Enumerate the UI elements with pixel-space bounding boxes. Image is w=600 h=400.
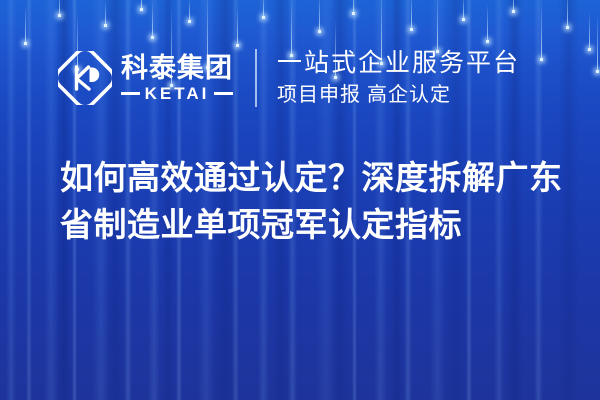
light-particle — [140, 8, 143, 11]
light-particle — [410, 28, 413, 31]
tagline-main: 一站式企业服务平台 — [277, 48, 520, 79]
tagline-block: 一站式企业服务平台 项目申报 高企认定 — [277, 48, 520, 108]
light-particle — [318, 30, 321, 33]
light-particle — [352, 12, 355, 15]
page-title: 如何高效通过认定？深度拆解广东省制造业单项冠军认定指标 — [60, 155, 570, 249]
light-particle — [512, 10, 515, 13]
light-particle — [262, 16, 265, 19]
brand-name-en-row: KETAI — [121, 85, 233, 102]
promo-banner: 科泰集团 KETAI 一站式企业服务平台 项目申报 高企认定 如何高效通过认定？… — [0, 0, 600, 400]
brand-name-cn: 科泰集团 — [121, 54, 233, 82]
light-particle — [462, 18, 465, 21]
header-divider — [255, 49, 257, 107]
brand-dash-right — [214, 92, 233, 95]
banner-header: 科泰集团 KETAI 一站式企业服务平台 项目申报 高企认定 — [0, 38, 600, 118]
light-particle — [104, 24, 107, 27]
light-particle — [566, 26, 569, 29]
brand-text-block: 科泰集团 KETAI — [121, 54, 233, 101]
light-particle — [58, 14, 61, 17]
brand-dash-left — [121, 92, 140, 95]
ketai-logo-icon — [58, 51, 112, 105]
brand-name-en: KETAI — [145, 85, 210, 102]
brand-lockup: 科泰集团 KETAI — [58, 51, 233, 105]
tagline-sub: 项目申报 高企认定 — [277, 82, 520, 108]
light-particle — [188, 20, 191, 23]
